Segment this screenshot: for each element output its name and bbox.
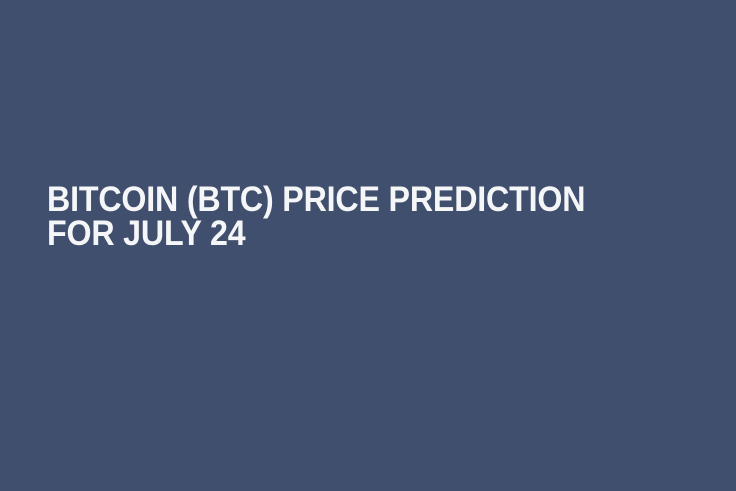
article-share-card: Bitcoin (BTC) Price Prediction for July …: [0, 0, 736, 491]
page-title: Bitcoin (BTC) Price Prediction for July …: [47, 183, 636, 251]
headline-block: Bitcoin (BTC) Price Prediction for July …: [47, 183, 687, 251]
